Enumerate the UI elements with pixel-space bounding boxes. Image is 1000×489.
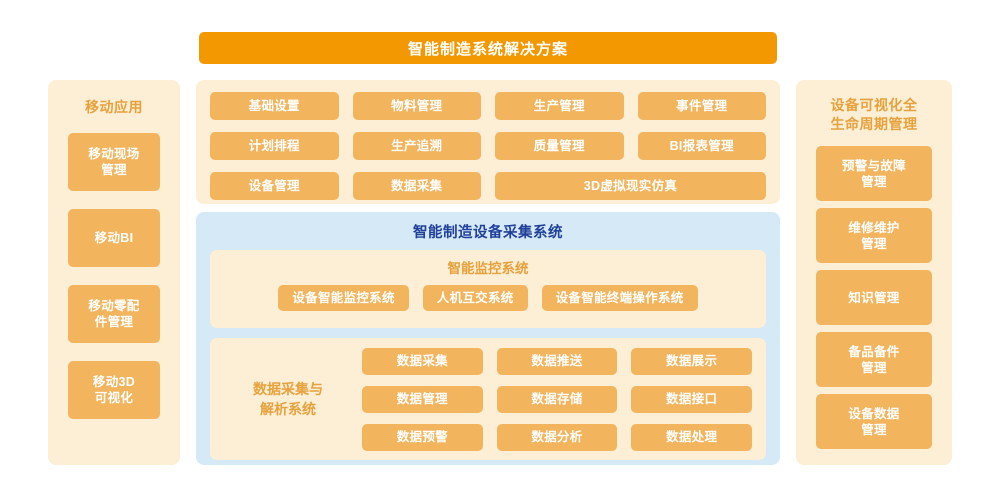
intelligent-monitoring-title: 智能监控系统	[224, 257, 752, 277]
core-module-item[interactable]: 3D虚拟现实仿真	[495, 172, 766, 200]
core-modules-grid: 基础设置物料管理生产管理事件管理计划排程生产追溯质量管理BI报表管理设备管理数据…	[210, 92, 766, 200]
core-module-item[interactable]: 事件管理	[638, 92, 767, 120]
equipment-lifecycle-item[interactable]: 知识管理	[816, 270, 932, 325]
core-module-item[interactable]: 质量管理	[495, 132, 624, 160]
solution-title-text: 智能制造系统解决方案	[408, 38, 568, 59]
mobile-application-item[interactable]: 移动现场管理	[68, 133, 160, 191]
mobile-application-item[interactable]: 移动零配件管理	[68, 285, 160, 343]
equipment-lifecycle-item[interactable]: 备品备件管理	[816, 332, 932, 387]
core-modules-panel: 基础设置物料管理生产管理事件管理计划排程生产追溯质量管理BI报表管理设备管理数据…	[196, 80, 780, 204]
mobile-application-item[interactable]: 移动3D可视化	[68, 361, 160, 419]
data-acquisition-item[interactable]: 数据接口	[631, 386, 752, 413]
data-acquisition-item[interactable]: 数据存储	[497, 386, 618, 413]
intelligent-monitoring-list: 设备智能监控系统人机互交系统设备智能终端操作系统	[224, 285, 752, 311]
data-acquisition-panel: 数据采集与解析系统 数据采集数据推送数据展示数据管理数据存储数据接口数据预警数据…	[210, 338, 766, 460]
equipment-acquisition-panel: 智能制造设备采集系统 智能监控系统 设备智能监控系统人机互交系统设备智能终端操作…	[196, 212, 780, 465]
data-acquisition-item[interactable]: 数据推送	[497, 348, 618, 375]
core-module-item[interactable]: 基础设置	[210, 92, 339, 120]
data-acquisition-item[interactable]: 数据采集	[362, 348, 483, 375]
equipment-lifecycle-panel: 设备可视化全生命周期管理 预警与故障管理维修维护管理知识管理备品备件管理设备数据…	[796, 80, 952, 465]
data-acquisition-item[interactable]: 数据管理	[362, 386, 483, 413]
equipment-lifecycle-item[interactable]: 预警与故障管理	[816, 146, 932, 201]
data-acquisition-item[interactable]: 数据处理	[631, 424, 752, 451]
equipment-lifecycle-item[interactable]: 维修维护管理	[816, 208, 932, 263]
data-acquisition-label: 数据采集与解析系统	[224, 379, 352, 419]
mobile-application-list: 移动现场管理移动BI移动零配件管理移动3D可视化	[48, 133, 180, 419]
data-acquisition-item[interactable]: 数据分析	[497, 424, 618, 451]
core-module-item[interactable]: 数据采集	[353, 172, 482, 200]
intelligent-monitoring-item[interactable]: 设备智能终端操作系统	[542, 285, 698, 311]
data-acquisition-grid: 数据采集数据推送数据展示数据管理数据存储数据接口数据预警数据分析数据处理	[362, 348, 752, 451]
mobile-application-heading: 移动应用	[48, 98, 180, 117]
intelligent-monitoring-item[interactable]: 设备智能监控系统	[278, 285, 408, 311]
equipment-lifecycle-heading: 设备可视化全生命周期管理	[796, 96, 952, 134]
mobile-application-item[interactable]: 移动BI	[68, 209, 160, 267]
data-acquisition-item[interactable]: 数据展示	[631, 348, 752, 375]
core-module-item[interactable]: BI报表管理	[638, 132, 767, 160]
core-module-item[interactable]: 生产追溯	[353, 132, 482, 160]
core-module-item[interactable]: 计划排程	[210, 132, 339, 160]
core-module-item[interactable]: 设备管理	[210, 172, 339, 200]
intelligent-monitoring-panel: 智能监控系统 设备智能监控系统人机互交系统设备智能终端操作系统	[210, 250, 766, 328]
equipment-lifecycle-item[interactable]: 设备数据管理	[816, 394, 932, 449]
equipment-lifecycle-list: 预警与故障管理维修维护管理知识管理备品备件管理设备数据管理	[796, 146, 952, 449]
data-acquisition-item[interactable]: 数据预警	[362, 424, 483, 451]
intelligent-monitoring-item[interactable]: 人机互交系统	[423, 285, 528, 311]
mobile-application-panel: 移动应用 移动现场管理移动BI移动零配件管理移动3D可视化	[48, 80, 180, 465]
core-module-item[interactable]: 生产管理	[495, 92, 624, 120]
core-module-item[interactable]: 物料管理	[353, 92, 482, 120]
solution-title-bar: 智能制造系统解决方案	[199, 32, 777, 64]
equipment-acquisition-title: 智能制造设备采集系统	[210, 221, 766, 242]
